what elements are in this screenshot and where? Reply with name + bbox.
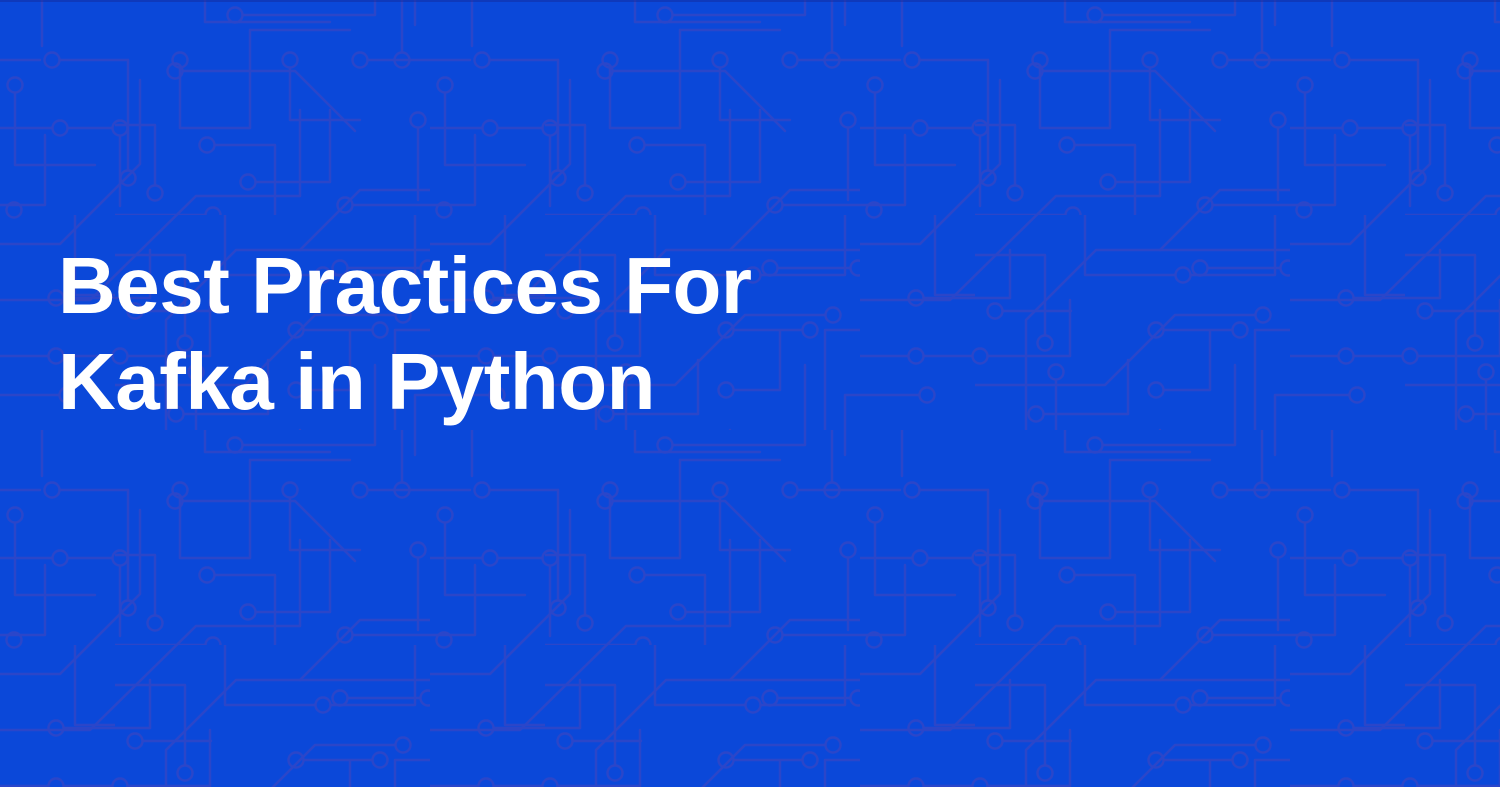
title-line-1: Best Practices For <box>58 238 958 334</box>
page-title: Best Practices For Kafka in Python <box>58 238 958 430</box>
top-edge-rule <box>0 0 1500 2</box>
title-line-2: Kafka in Python <box>58 334 958 430</box>
hero-banner: Best Practices For Kafka in Python <box>0 0 1500 787</box>
